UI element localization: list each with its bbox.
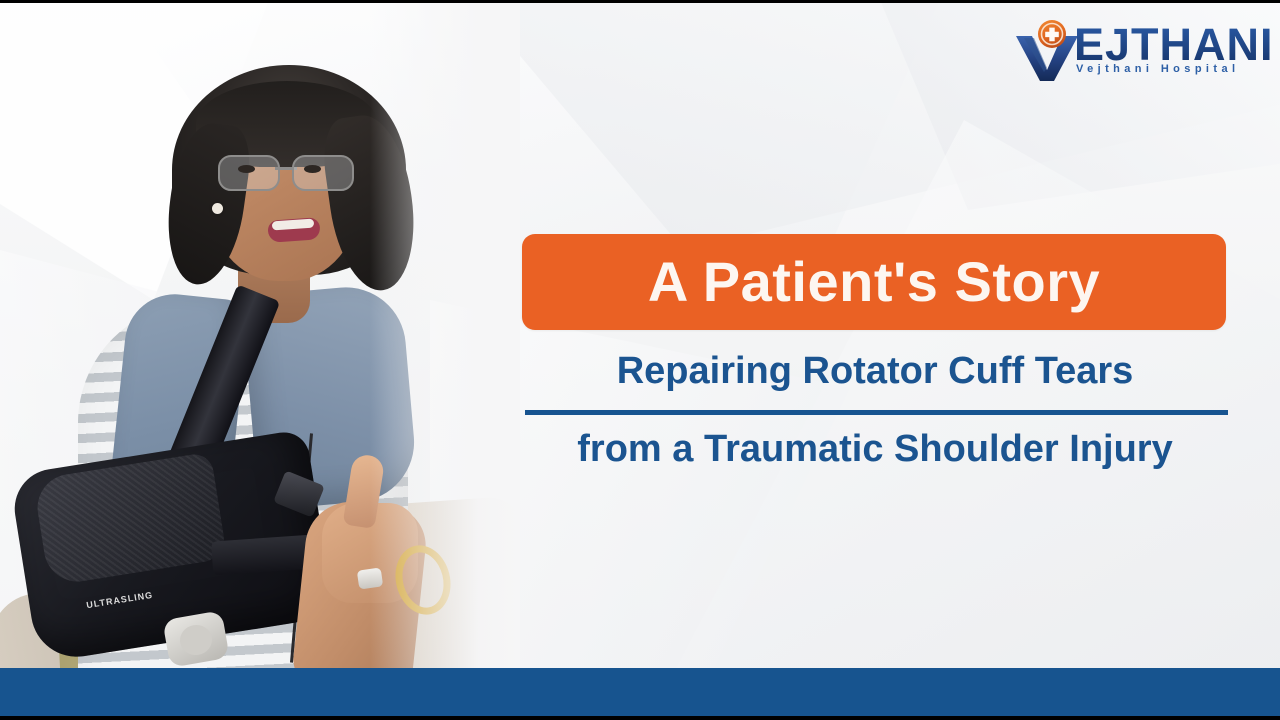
patient-earring [212, 203, 223, 214]
patient-eye-left [238, 165, 255, 173]
vejthani-tagline: Vejthani Hospital [1076, 63, 1239, 75]
patient-eye-right [304, 165, 321, 173]
eyeglass-lens-left [218, 155, 280, 191]
subtitle-line-1: Repairing Rotator Cuff Tears [522, 350, 1228, 393]
title-banner-label: A Patient's Story [648, 254, 1100, 310]
letterbox-bottom [0, 716, 1280, 720]
title-banner: A Patient's Story [522, 234, 1226, 330]
letterbox-top [0, 0, 1280, 3]
vejthani-wordmark: EJTHANI [1074, 22, 1274, 67]
video-thumbnail-frame: ULTRASLING [0, 0, 1280, 720]
patient-photo: ULTRASLING [0, 3, 520, 716]
patient-eyeglasses [218, 155, 354, 189]
footer-blue-band [0, 668, 1280, 716]
subtitle-line-2: from a Traumatic Shoulder Injury [522, 428, 1228, 471]
photo-edge-fade [370, 3, 520, 716]
vejthani-logo: EJTHANI Vejthani Hospital [1012, 16, 1252, 86]
subtitle-divider [525, 410, 1228, 415]
patient-photo-content: ULTRASLING [0, 3, 520, 716]
eyeglass-lens-right [292, 155, 354, 191]
